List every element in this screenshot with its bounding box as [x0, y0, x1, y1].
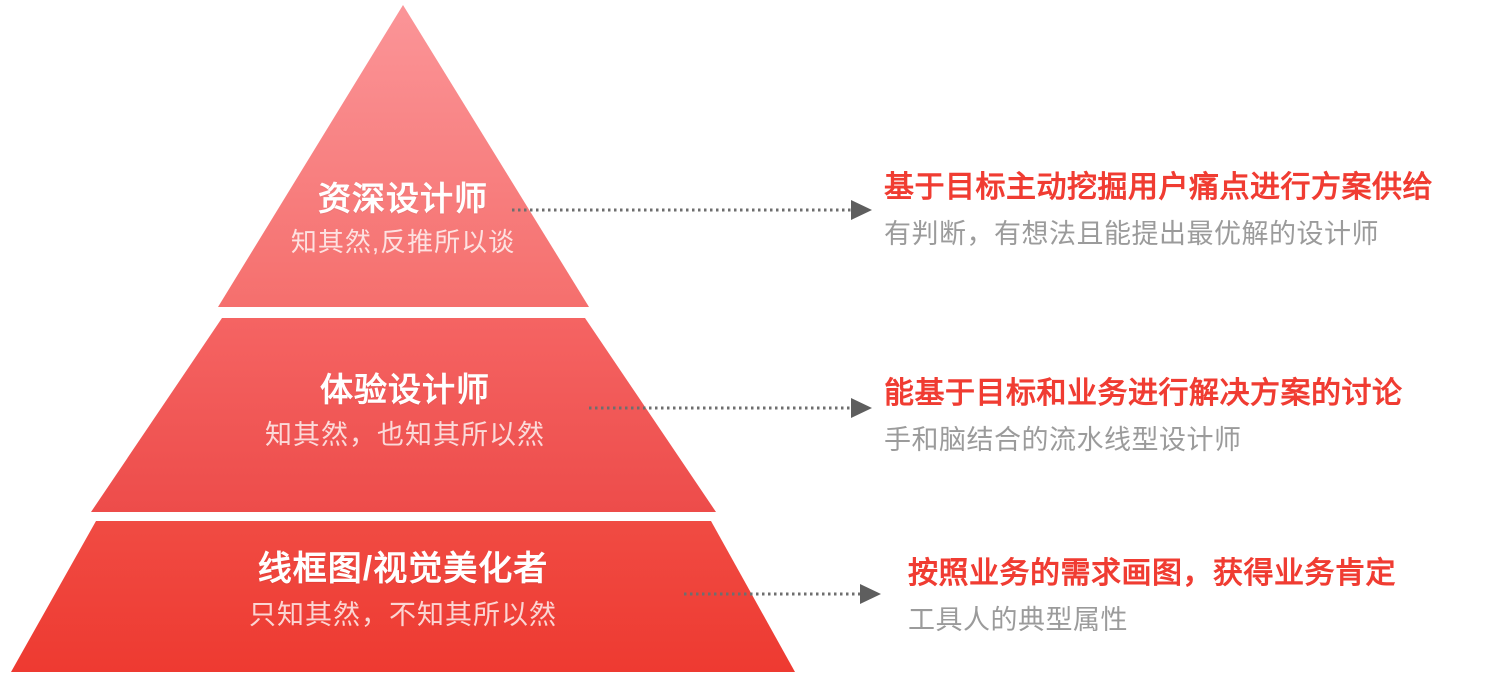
pyramid-level-1-shape[interactable] — [218, 5, 589, 307]
description-3-primary: 按照业务的需求画图，获得业务肯定 — [908, 556, 1500, 592]
designer-maturity-pyramid-diagram: 资深设计师 知其然,反推所以谈 体验设计师 知其然，也知其所以然 线框图/视觉美… — [0, 0, 1500, 689]
connector-1 — [512, 200, 872, 220]
description-block-experience-designer: 能基于目标和业务进行解决方案的讨论 手和脑结合的流水线型设计师 — [884, 376, 1500, 456]
description-3-secondary: 工具人的典型属性 — [908, 604, 1500, 636]
description-1-secondary: 有判断，有想法且能提出最优解的设计师 — [884, 218, 1500, 250]
description-block-wireframe-visual-beautifier: 按照业务的需求画图，获得业务肯定 工具人的典型属性 — [908, 556, 1500, 636]
pyramid-level-2-shape[interactable] — [91, 318, 716, 512]
description-block-senior-designer: 基于目标主动挖掘用户痛点进行方案供给 有判断，有想法且能提出最优解的设计师 — [884, 170, 1500, 250]
description-2-secondary: 手和脑结合的流水线型设计师 — [884, 424, 1500, 456]
description-2-primary: 能基于目标和业务进行解决方案的讨论 — [884, 376, 1500, 412]
description-1-primary: 基于目标主动挖掘用户痛点进行方案供给 — [884, 170, 1500, 206]
pyramid-level-3-shape[interactable] — [11, 521, 795, 672]
